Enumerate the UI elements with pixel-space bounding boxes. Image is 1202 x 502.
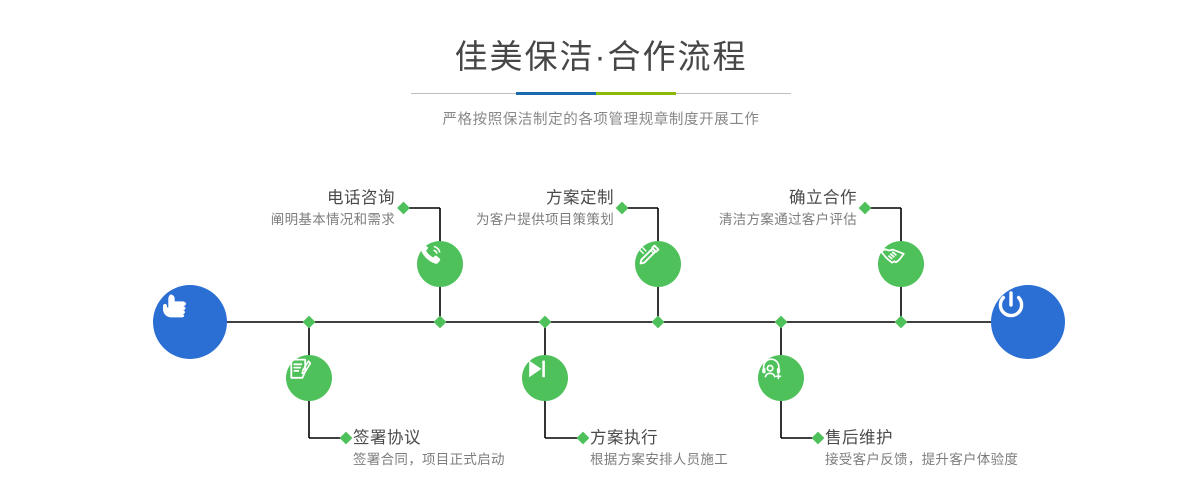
- play-forward-icon: [522, 355, 550, 383]
- handshake-icon: [878, 241, 907, 270]
- flow-connectors: [0, 0, 1202, 502]
- step-label-6: 售后维护 接受客户反馈，提升客户体验度: [825, 428, 1018, 470]
- step-node-3[interactable]: [635, 241, 681, 287]
- step-node-6[interactable]: [758, 355, 804, 401]
- phone-call-icon: [417, 241, 445, 269]
- flow-end-node[interactable]: [991, 285, 1065, 359]
- diamond-top-5: [859, 202, 872, 215]
- step-label-5: 确立合作 清洁方案通过客户评估: [657, 188, 857, 230]
- step-desc-2: 签署合同，项目正式启动: [353, 450, 505, 470]
- step-desc-3: 为客户提供项目策策划: [414, 210, 614, 230]
- customer-support-icon: [758, 355, 786, 383]
- diamond-bottom-2: [340, 432, 353, 445]
- step-desc-4: 根据方案安排人员施工: [590, 450, 728, 470]
- step-title-2: 签署协议: [353, 428, 505, 448]
- step-label-1: 电话咨询 阐明基本情况和需求: [195, 188, 395, 230]
- step-title-5: 确立合作: [657, 188, 857, 208]
- diamond-top-3: [616, 202, 629, 215]
- axis-diamond-4: [539, 316, 552, 329]
- flow-start-node[interactable]: [153, 285, 227, 359]
- step-title-6: 售后维护: [825, 428, 1018, 448]
- step-desc-1: 阐明基本情况和需求: [195, 210, 395, 230]
- step-node-2[interactable]: [286, 355, 332, 401]
- axis-diamond-6: [775, 316, 788, 329]
- diamond-bottom-4: [577, 432, 590, 445]
- step-label-4: 方案执行 根据方案安排人员施工: [590, 428, 728, 470]
- step-title-1: 电话咨询: [195, 188, 395, 208]
- step-node-4[interactable]: [522, 355, 568, 401]
- diamond-top-1: [397, 202, 410, 215]
- step-node-5[interactable]: [878, 241, 924, 287]
- pencil-ruler-icon: [635, 241, 663, 269]
- diamond-bottom-6: [812, 432, 825, 445]
- power-icon: [991, 285, 1031, 325]
- step-title-3: 方案定制: [414, 188, 614, 208]
- axis-diamond-5: [895, 316, 908, 329]
- axis-diamond-2: [303, 316, 316, 329]
- axis-diamond-3: [652, 316, 665, 329]
- step-label-2: 签署协议 签署合同，项目正式启动: [353, 428, 505, 470]
- step-desc-6: 接受客户反馈，提升客户体验度: [825, 450, 1018, 470]
- pointing-hand-icon: [153, 285, 193, 325]
- process-flow-diagram: 电话咨询 阐明基本情况和需求 方案定制 为客户提供项目策策划 确立合作 清洁方案…: [0, 0, 1202, 502]
- step-desc-5: 清洁方案通过客户评估: [657, 210, 857, 230]
- step-label-3: 方案定制 为客户提供项目策策划: [414, 188, 614, 230]
- axis-diamond-1: [434, 316, 447, 329]
- step-title-4: 方案执行: [590, 428, 728, 448]
- step-node-1[interactable]: [417, 241, 463, 287]
- document-edit-icon: [286, 355, 314, 383]
